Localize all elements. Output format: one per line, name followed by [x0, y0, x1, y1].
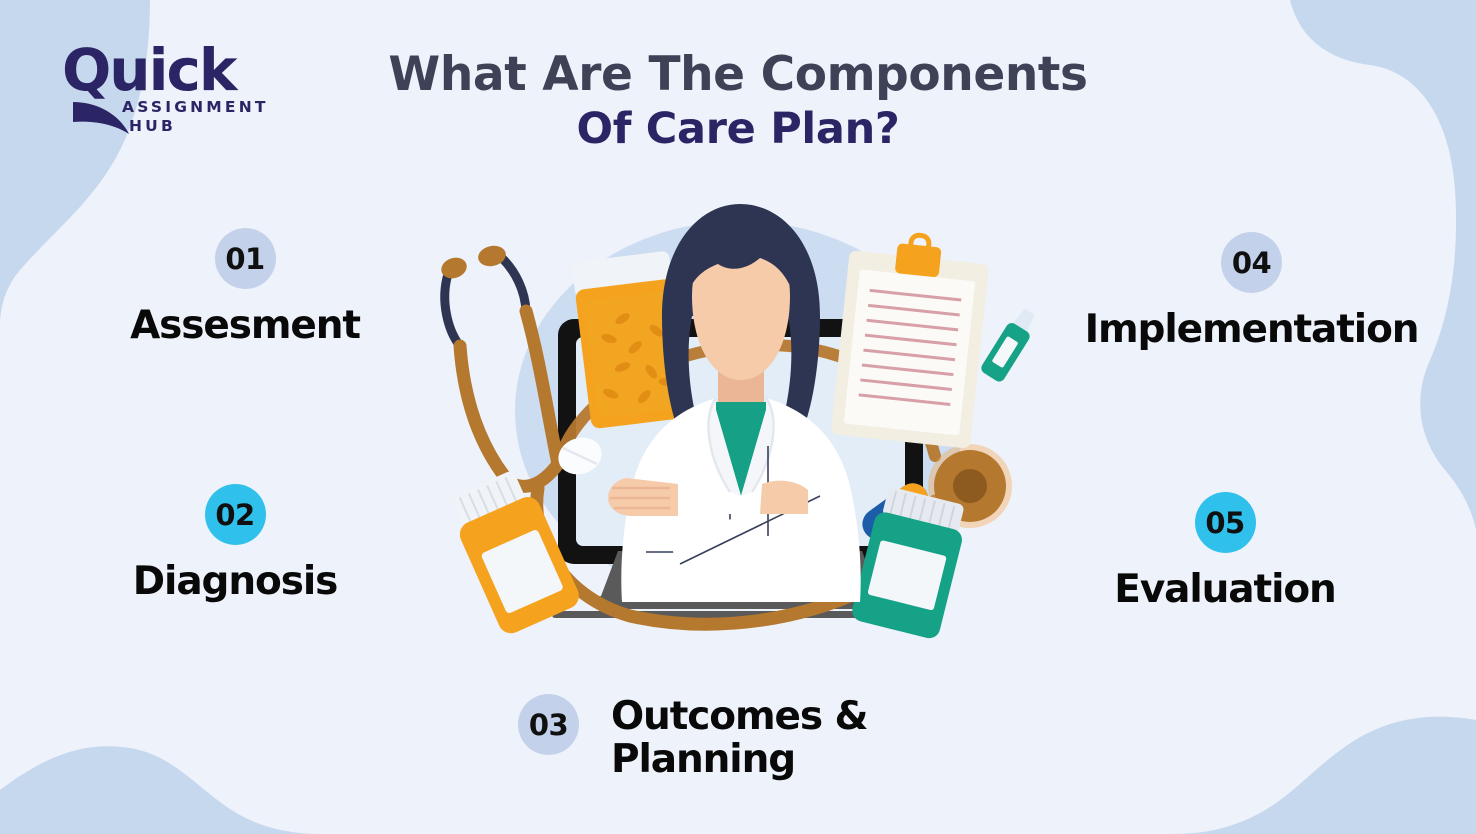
doctor-illustration	[430, 196, 1050, 651]
step-item-01[interactable]: 01 Assesment	[105, 228, 385, 347]
step-number-03: 03	[529, 708, 568, 742]
step-badge-02: 02	[205, 484, 266, 545]
step-badge-01: 01	[215, 228, 276, 289]
step-badge-03: 03	[518, 694, 579, 755]
step-label-03-line-1: Outcomes &	[611, 696, 867, 737]
step-label-04: Implementation	[1085, 309, 1419, 351]
step-item-05[interactable]: 05 Evaluation	[1090, 492, 1360, 611]
blob-bottom-right	[1160, 717, 1476, 834]
ampoule-icon	[979, 306, 1041, 384]
step-item-04[interactable]: 04 Implementation	[1073, 232, 1430, 351]
step-label-02: Diagnosis	[133, 561, 337, 603]
step-label-03-line-2: Planning	[611, 739, 867, 780]
brand-logo[interactable]: Quick ASSIGNMENT HUB	[62, 44, 269, 135]
step-number-01: 01	[225, 242, 264, 276]
step-item-03[interactable]: 03 Outcomes & Planning	[518, 694, 867, 781]
step-label-01: Assesment	[130, 305, 360, 347]
infographic-canvas: Quick ASSIGNMENT HUB What Are The Compon…	[0, 0, 1476, 834]
step-item-02[interactable]: 02 Diagnosis	[95, 484, 375, 603]
step-label-05: Evaluation	[1114, 569, 1335, 611]
step-number-02: 02	[215, 498, 254, 532]
logo-wordmark: Quick	[62, 44, 269, 97]
blob-bottom-left	[0, 746, 360, 834]
logo-swoosh-icon	[67, 96, 157, 146]
clipboard-icon	[831, 228, 992, 449]
step-number-05: 05	[1205, 506, 1244, 540]
step-number-04: 04	[1232, 246, 1271, 280]
step-badge-05: 05	[1195, 492, 1256, 553]
step-badge-04: 04	[1221, 232, 1282, 293]
